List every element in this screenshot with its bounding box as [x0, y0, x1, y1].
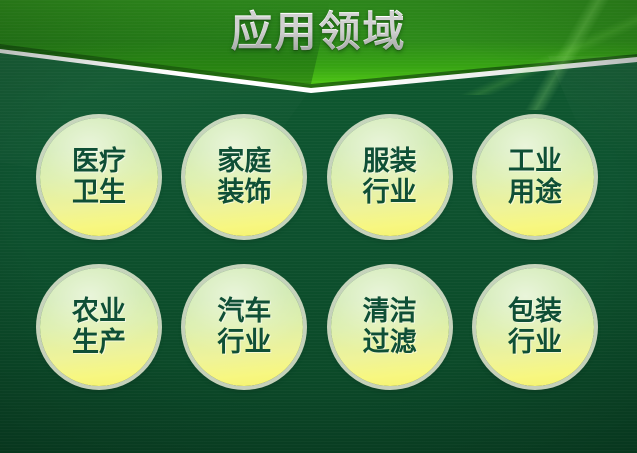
bubble-label: 农业 生产	[72, 296, 126, 358]
bubble-label: 汽车 行业	[217, 296, 271, 358]
page-title: 应用领域	[0, 6, 637, 58]
bubble-label: 服装 行业	[363, 146, 417, 208]
application-fields-grid: 医疗 卫生 家庭 装饰 服装 行业 工业 用途 农业 生产 汽车 行业 清洁 过…	[40, 118, 594, 386]
bubble-automotive-industry[interactable]: 汽车 行业	[185, 268, 303, 386]
bubble-row-2: 农业 生产 汽车 行业 清洁 过滤 包装 行业	[40, 268, 594, 386]
application-fields-banner: 应用领域 医疗 卫生 家庭 装饰 服装 行业 工业 用途 农业 生产 汽车 行业	[0, 0, 637, 453]
bubble-apparel-industry[interactable]: 服装 行业	[331, 118, 449, 236]
bubble-home-decoration[interactable]: 家庭 装饰	[185, 118, 303, 236]
bubble-label: 医疗 卫生	[72, 146, 126, 208]
bubble-industrial-use[interactable]: 工业 用途	[476, 118, 594, 236]
bubble-medical-hygiene[interactable]: 医疗 卫生	[40, 118, 158, 236]
bubble-label: 工业 用途	[508, 146, 562, 208]
bubble-label: 清洁 过滤	[363, 296, 417, 358]
bubble-cleaning-filtration[interactable]: 清洁 过滤	[331, 268, 449, 386]
bubble-row-1: 医疗 卫生 家庭 装饰 服装 行业 工业 用途	[40, 118, 594, 236]
bubble-label: 包装 行业	[508, 296, 562, 358]
bubble-agricultural-production[interactable]: 农业 生产	[40, 268, 158, 386]
bubble-label: 家庭 装饰	[217, 146, 271, 208]
bubble-packaging-industry[interactable]: 包装 行业	[476, 268, 594, 386]
